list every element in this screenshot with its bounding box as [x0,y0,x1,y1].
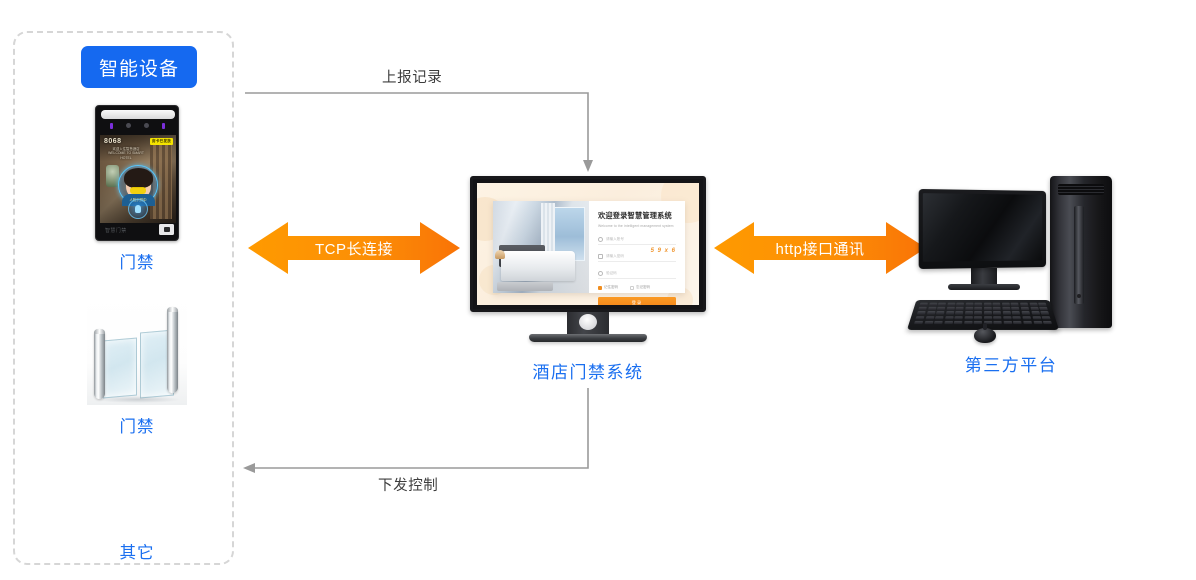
connector-report-records: 上报记录 [240,66,600,178]
monitor-stand-neck [567,312,609,334]
face-recognition-terminal-icon: 8068 欢迎入住智慧酒店 WELCOME TO SMART HOTEL 房卡已… [95,105,179,241]
terminal-status-badge: 房卡已发放 [150,138,173,145]
arrow-http-label: http接口通讯 [775,238,864,259]
login-remember-label: 记住密码 [604,285,618,290]
device-other-placeholder [87,503,187,531]
monitor-stand-base [529,334,647,342]
connector-issue-control-label: 下发控制 [378,474,438,495]
pc-monitor-base [948,284,1020,290]
connector-report-records-label: 上报记录 [382,66,442,87]
monitor-bezel: 欢迎登录智慧管理系统 Welcome to the intelligent ma… [470,176,706,312]
terminal-room-subtitle: 欢迎入住智慧酒店 WELCOME TO SMART HOTEL [104,147,148,160]
login-captcha-placeholder: 验证码 [606,271,617,276]
gate-post-right [167,307,178,393]
device-other-caption: 其它 [77,539,197,563]
terminal-room-number: 8068 [104,138,122,145]
login-captcha-image[interactable]: 5 9 x 6 [651,248,676,254]
login-remember-checkbox[interactable]: 记住密码 [598,285,618,290]
terminal-footer: 智慧门禁 [96,222,178,238]
login-username-placeholder: 请输入账号 [606,237,624,242]
connector-issue-control: 下发控制 [236,386,602,498]
login-captcha-field[interactable]: 验证码 [598,269,676,279]
device-glass-gate[interactable]: 门禁 [77,295,197,437]
hotel-room-photo [493,201,589,293]
login-username-field[interactable]: 请输入账号 [598,235,676,245]
gate-floor-shadow [95,396,181,403]
lock-icon [598,254,603,259]
shield-icon [598,271,603,276]
pc-monitor-icon [920,190,1048,290]
third-party-platform[interactable]: 第三方平台 [912,176,1112,376]
pc-monitor-bezel [919,189,1046,269]
user-icon [598,237,603,242]
device-face-terminal[interactable]: 8068 欢迎入住智慧酒店 WELCOME TO SMART HOTEL 房卡已… [77,105,197,273]
login-forgot-link[interactable]: 忘记密码 [630,285,650,290]
arrow-tcp-label: TCP长连接 [315,238,393,259]
glass-swing-gate-icon [87,295,187,405]
terminal-light-bar [101,110,175,119]
mouse-icon [974,328,996,343]
pc-monitor-screen [923,193,1042,262]
gate-post-left [94,329,105,399]
smart-device-group-badge: 智能设备 [81,46,197,88]
device-glass-gate-caption: 门禁 [77,413,197,437]
login-submit-button[interactable]: 登录 [598,297,676,305]
gate-glass-panel-left [103,338,137,399]
terminal-card-reader-icon [159,224,174,235]
terminal-highlight-chip [130,187,146,194]
login-form: 欢迎登录智慧管理系统 Welcome to the intelligent ma… [589,201,685,293]
pc-tower-icon [1050,176,1112,328]
pc-monitor-neck [971,268,997,284]
login-card: 欢迎登录智慧管理系统 Welcome to the intelligent ma… [493,201,685,293]
smart-device-group: 智能设备 8068 欢迎入住智慧酒店 WELCOME TO SMART HOTE… [13,31,234,565]
login-title: 欢迎登录智慧管理系统 [598,211,676,221]
hotel-access-system[interactable]: 欢迎登录智慧管理系统 Welcome to the intelligent ma… [470,176,706,383]
terminal-scan-wave-icon [128,199,148,219]
device-other[interactable]: 其它 [77,503,197,563]
arrow-tcp-long-connection: TCP长连接 [248,220,460,276]
login-password-placeholder: 请输入密码 [606,254,624,259]
terminal-brand-text: 智慧门禁 [105,227,127,234]
login-options: 记住密码 忘记密码 [598,285,676,290]
monitor-screen: 欢迎登录智慧管理系统 Welcome to the intelligent ma… [477,183,699,305]
diagram-canvas: 智能设备 8068 欢迎入住智慧酒店 WELCOME TO SMART HOTE… [0,0,1196,580]
terminal-sensor-row [96,123,178,129]
device-face-terminal-caption: 门禁 [77,249,197,273]
terminal-face-avatar [126,171,151,199]
arrow-http-interface: http接口通讯 [714,220,926,276]
terminal-screen: 8068 欢迎入住智慧酒店 WELCOME TO SMART HOTEL 房卡已… [100,135,176,223]
third-party-platform-caption: 第三方平台 [866,351,1156,376]
login-subtitle: Welcome to the intelligent management sy… [598,224,676,228]
hotel-access-system-caption: 酒店门禁系统 [470,358,706,383]
login-forgot-label: 忘记密码 [636,285,650,290]
